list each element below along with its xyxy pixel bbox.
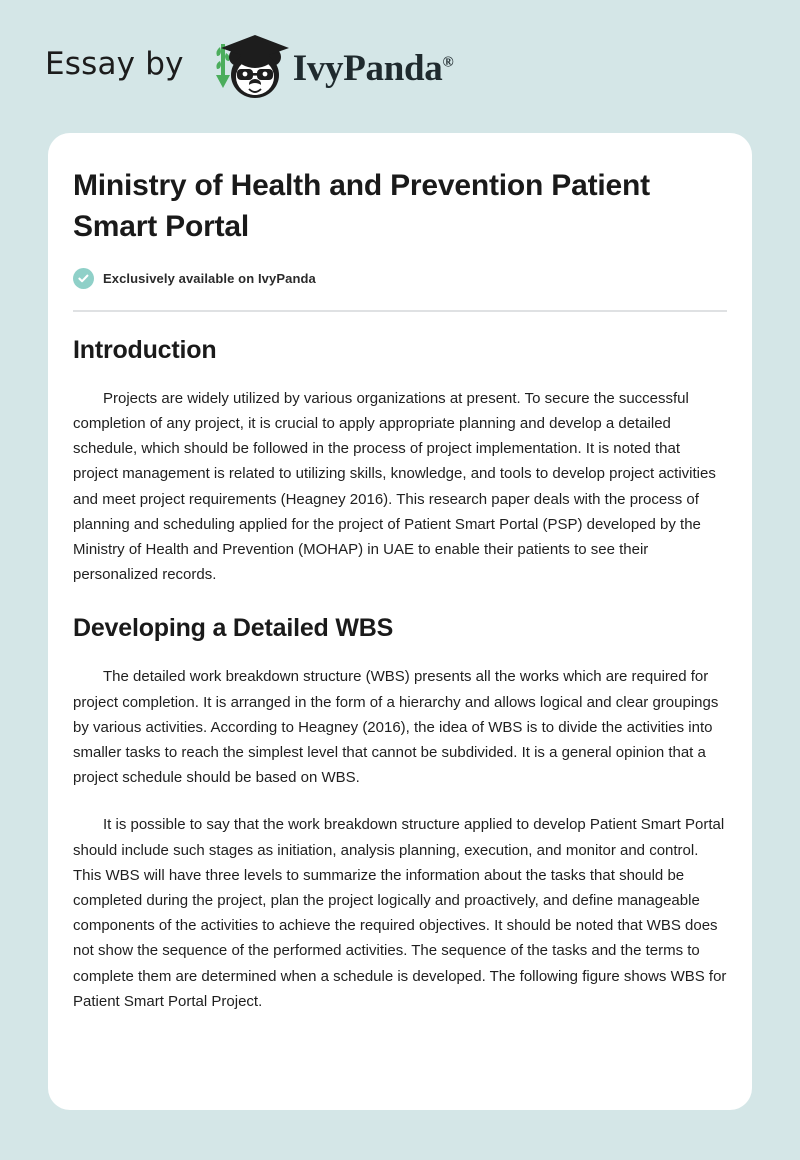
paragraph: It is possible to say that the work brea…: [73, 812, 727, 1014]
check-circle-icon: [73, 268, 94, 289]
essay-by-label: Essay by: [45, 49, 184, 80]
exclusive-badge: Exclusively available on IvyPanda: [73, 268, 727, 289]
site-header: Essay by: [0, 0, 800, 133]
panda-graduate-icon: [201, 31, 297, 103]
title-divider: [73, 310, 727, 312]
registered-mark: ®: [442, 55, 453, 71]
essay-card: Ministry of Health and Prevention Patien…: [48, 133, 752, 1110]
section-heading-developing-a-detailed-wbs: Developing a Detailed WBS: [73, 614, 727, 643]
brand-name: IvyPanda: [293, 48, 443, 89]
page-title: Ministry of Health and Prevention Patien…: [73, 165, 673, 248]
exclusive-badge-label: Exclusively available on IvyPanda: [103, 271, 316, 286]
paragraph: Projects are widely utilized by various …: [73, 386, 727, 588]
paragraph: The detailed work breakdown structure (W…: [73, 664, 727, 790]
ivypanda-logo[interactable]: IvyPanda®: [201, 31, 454, 103]
section-heading-introduction: Introduction: [73, 336, 727, 365]
brand-wordmark: IvyPanda®: [293, 50, 454, 87]
